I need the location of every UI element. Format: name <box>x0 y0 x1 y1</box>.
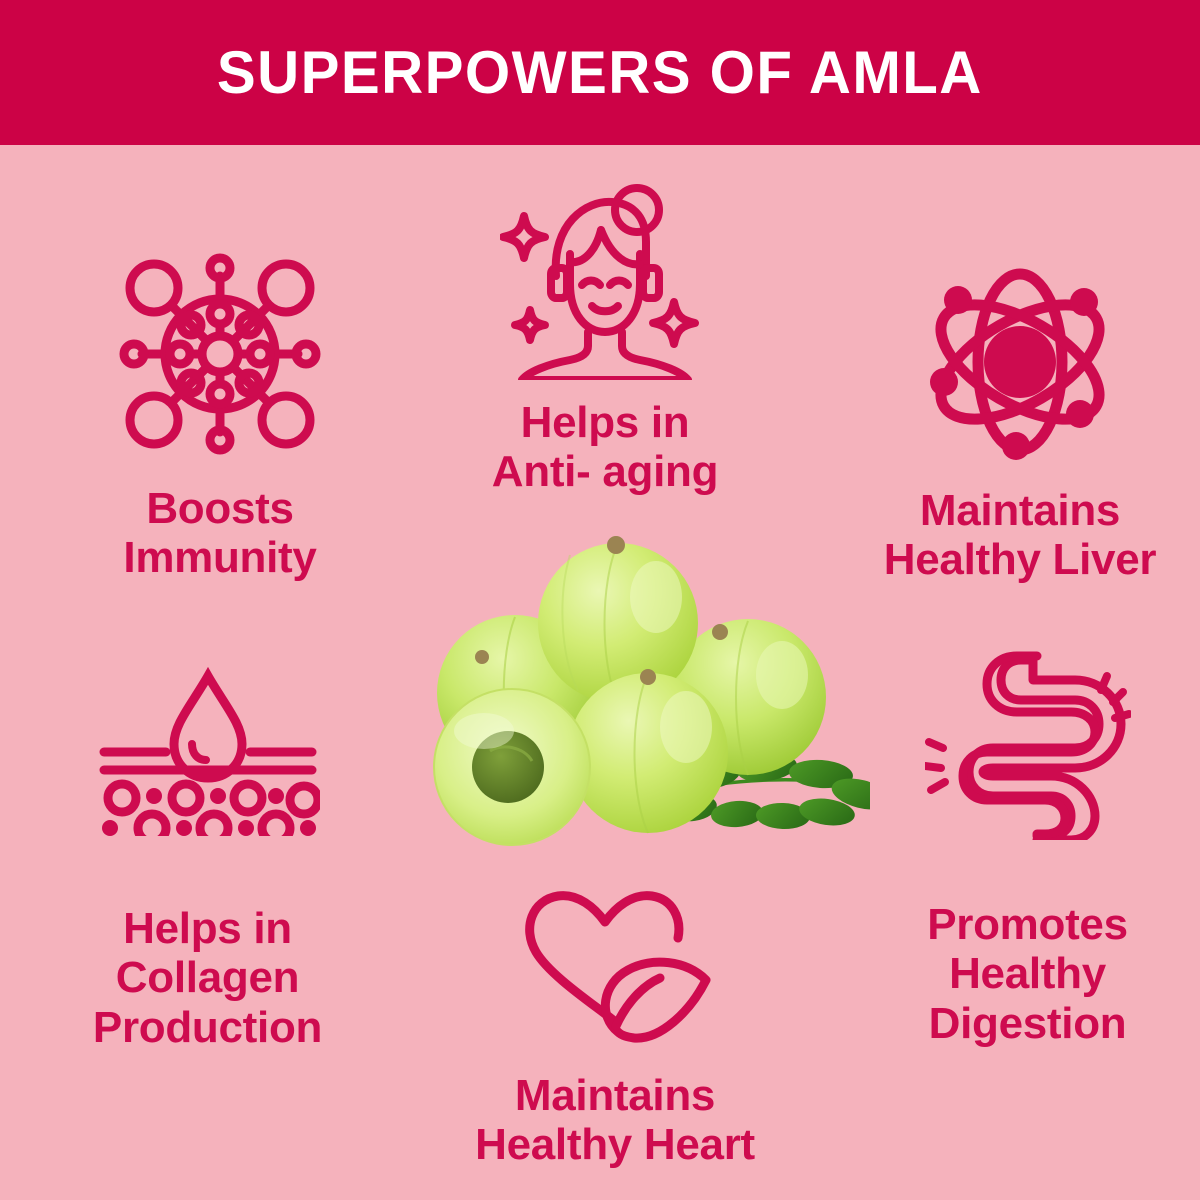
feature-caption: Maintains Healthy Liver <box>884 486 1156 585</box>
feature-caption: Boosts Immunity <box>123 484 316 583</box>
virus-cell-icon <box>112 246 328 462</box>
header-band: SUPERPOWERS OF AMLA <box>0 0 1200 145</box>
skin-droplet-layers-icon <box>96 660 320 836</box>
amla-fruit-halved <box>434 689 590 845</box>
feature-healthy-digestion: Promotes Healthy Digestion <box>855 650 1200 1048</box>
amla-fruit-cluster-image <box>420 515 870 875</box>
feature-caption: Helps in Anti- aging <box>492 398 718 497</box>
feature-boosts-immunity: Boosts Immunity <box>40 246 400 583</box>
feature-caption: Maintains Healthy Heart <box>475 1071 755 1170</box>
feature-healthy-liver: Maintains Healthy Liver <box>840 262 1200 585</box>
atom-molecule-icon <box>920 262 1120 462</box>
feature-collagen-production: Helps in Collagen Production <box>35 660 380 1052</box>
infographic-poster: SUPERPOWERS OF AMLA <box>0 0 1200 1200</box>
intestine-icon <box>925 650 1131 840</box>
feature-caption: Helps in Collagen Production <box>93 904 322 1052</box>
page-title: SUPERPOWERS OF AMLA <box>217 43 983 103</box>
feature-caption: Promotes Healthy Digestion <box>927 900 1128 1048</box>
woman-face-sparkle-icon <box>500 180 710 380</box>
feature-anti-aging: Helps in Anti- aging <box>450 180 760 497</box>
heart-leaf-icon <box>510 880 720 1045</box>
feature-healthy-heart: Maintains Healthy Heart <box>450 880 780 1170</box>
